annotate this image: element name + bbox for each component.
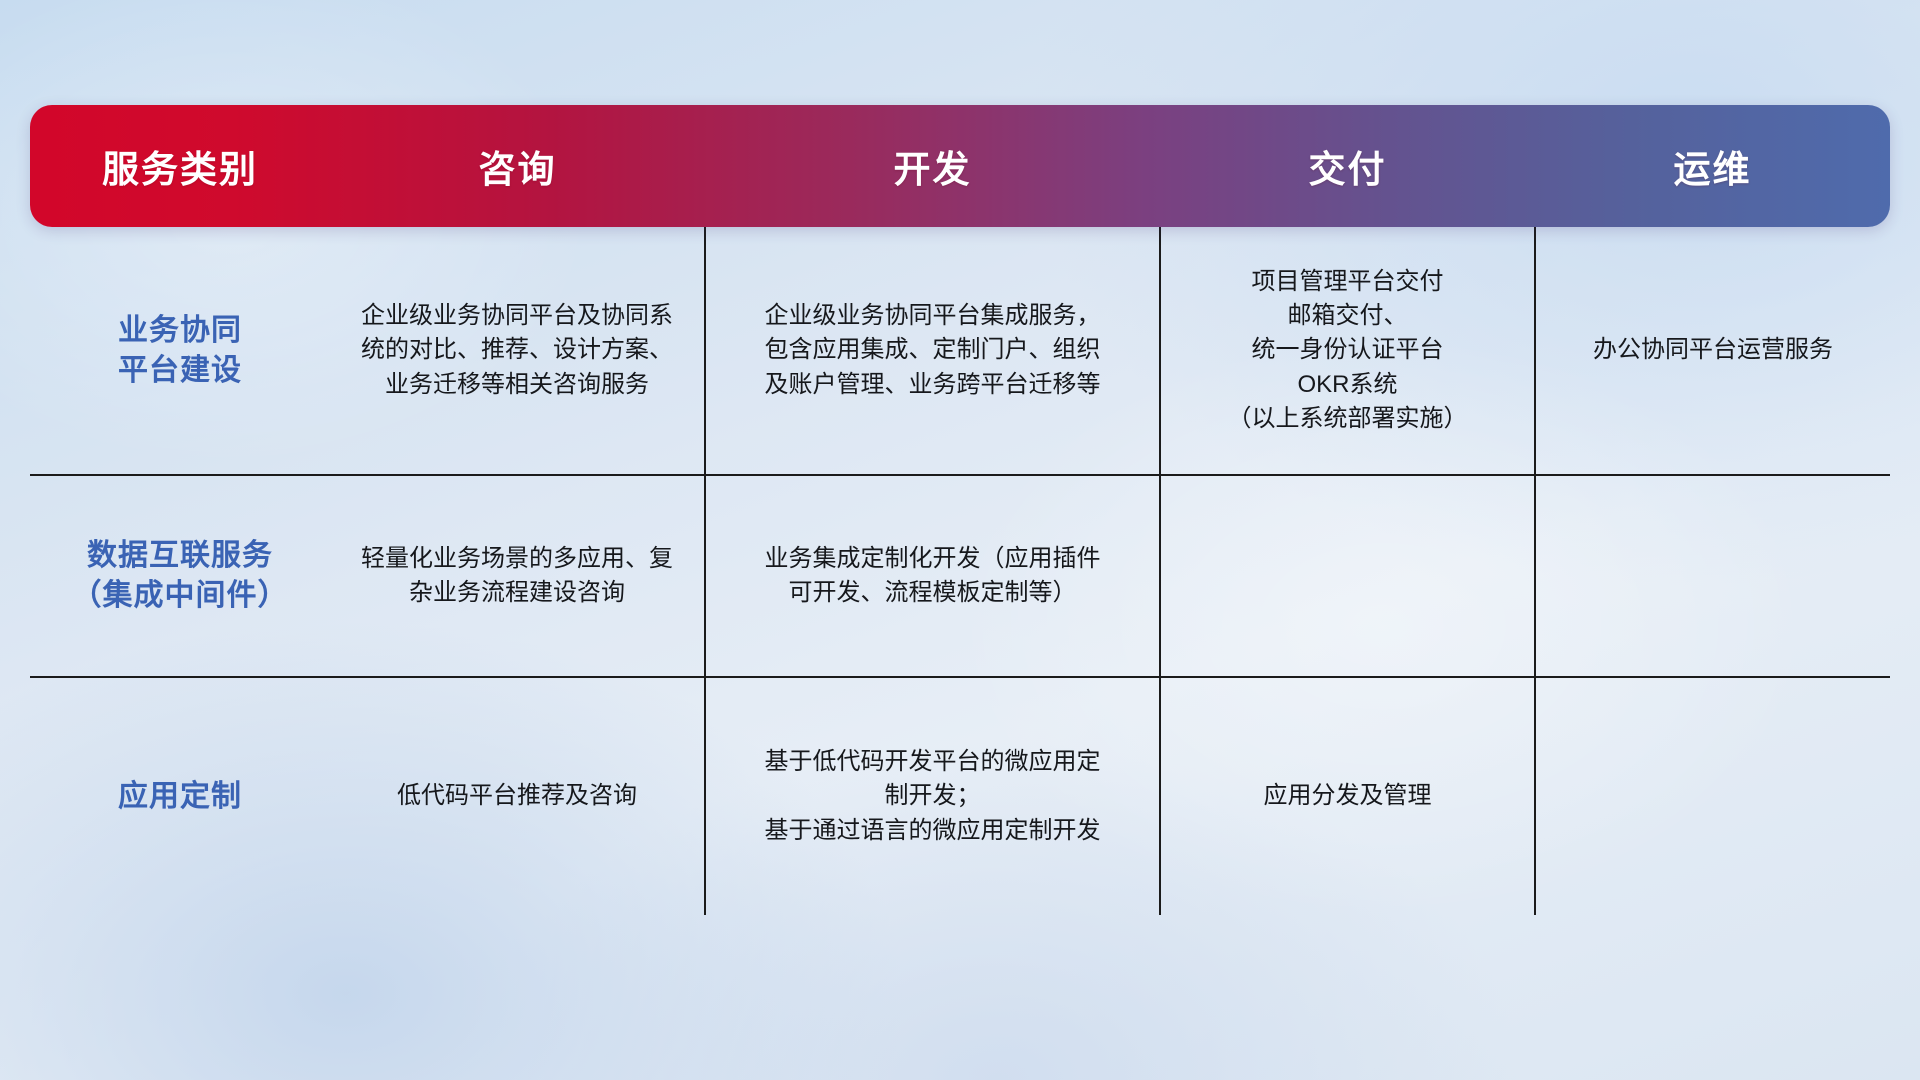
table-row: 应用定制 低代码平台推荐及咨询 基于低代码开发平台的微应用定 制开发； 基于通过… [30,677,1890,915]
matrix-body: 业务协同 平台建设 企业级业务协同平台及协同系 统的对比、推荐、设计方案、 业务… [30,227,1890,915]
row-category-label: 数据互联服务 （集成中间件） [30,475,330,677]
cell-development: 基于低代码开发平台的微应用定 制开发； 基于通过语言的微应用定制开发 [705,677,1160,915]
row-category-label: 业务协同 平台建设 [30,227,330,475]
cell-development: 企业级业务协同平台集成服务， 包含应用集成、定制门户、组织 及账户管理、业务跨平… [705,227,1160,475]
header-row: 服务类别 咨询 开发 交付 运维 [30,105,1890,227]
cell-consulting: 企业级业务协同平台及协同系 统的对比、推荐、设计方案、 业务迁移等相关咨询服务 [330,227,705,475]
cell-operations [1535,475,1890,677]
service-matrix-container: 服务类别 咨询 开发 交付 运维 业务协同 平台建设 企业级业务协同平台及协同系… [30,105,1890,965]
cell-consulting: 低代码平台推荐及咨询 [330,677,705,915]
table-row: 业务协同 平台建设 企业级业务协同平台及协同系 统的对比、推荐、设计方案、 业务… [30,227,1890,475]
column-header-consulting: 咨询 [330,105,705,227]
cell-delivery: 应用分发及管理 [1160,677,1535,915]
table-row: 数据互联服务 （集成中间件） 轻量化业务场景的多应用、复 杂业务流程建设咨询 业… [30,475,1890,677]
cell-development: 业务集成定制化开发（应用插件 可开发、流程模板定制等） [705,475,1160,677]
column-header-development: 开发 [705,105,1160,227]
service-category-matrix: 服务类别 咨询 开发 交付 运维 业务协同 平台建设 企业级业务协同平台及协同系… [30,105,1890,915]
matrix-header: 服务类别 咨询 开发 交付 运维 [30,105,1890,227]
column-header-delivery: 交付 [1160,105,1535,227]
row-category-label: 应用定制 [30,677,330,915]
cell-delivery [1160,475,1535,677]
column-header-service-category: 服务类别 [30,105,330,227]
cell-operations: 办公协同平台运营服务 [1535,227,1890,475]
cell-consulting: 轻量化业务场景的多应用、复 杂业务流程建设咨询 [330,475,705,677]
cell-operations [1535,677,1890,915]
cell-delivery: 项目管理平台交付 邮箱交付、 统一身份认证平台 OKR系统 （以上系统部署实施） [1160,227,1535,475]
column-header-operations: 运维 [1535,105,1890,227]
